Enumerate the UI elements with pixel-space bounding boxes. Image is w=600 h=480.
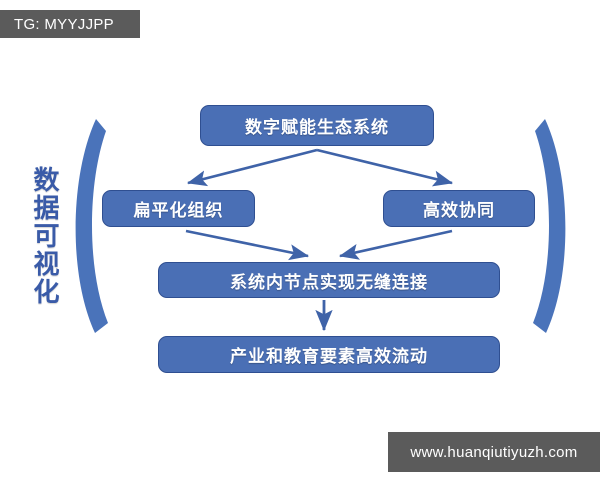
edge-right-to-connect xyxy=(340,231,452,256)
node-flat-organization[interactable]: 扁平化组织 xyxy=(102,190,255,227)
node-element-flow[interactable]: 产业和教育要素高效流动 xyxy=(158,336,500,373)
flow-diagram-graphics xyxy=(0,0,600,480)
vertical-side-label: 数据可视化 xyxy=(14,166,58,306)
node-seamless-connection[interactable]: 系统内节点实现无缝连接 xyxy=(158,262,500,298)
tag-badge: TG: MYYJJPP xyxy=(0,10,140,38)
node-digital-ecosystem[interactable]: 数字赋能生态系统 xyxy=(200,105,434,146)
node-efficient-collaboration[interactable]: 高效协同 xyxy=(383,190,535,227)
edge-left-to-connect xyxy=(186,231,308,256)
edge-top-to-left xyxy=(188,150,317,183)
site-watermark: www.huanqiutiyuzh.com xyxy=(388,432,600,472)
left-bracket-icon xyxy=(76,119,108,333)
right-bracket-icon xyxy=(533,119,565,333)
diagram-canvas: 数据可视化 数字赋能生态系统 扁平化组织 高效协同 系统内节点实现无缝连接 产业… xyxy=(0,0,600,480)
edge-top-to-right xyxy=(317,150,452,183)
